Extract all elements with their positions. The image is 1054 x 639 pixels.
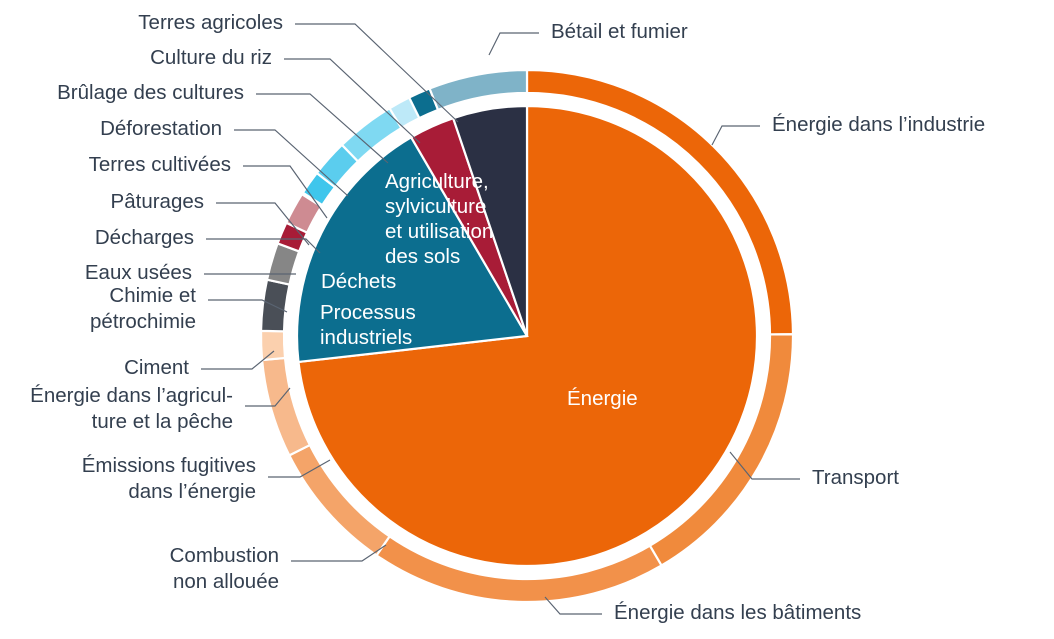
callout-label-decharges[interactable]: Décharges <box>95 226 194 249</box>
callout-label-brulage-des-cultures[interactable]: Brûlage des cultures <box>57 81 244 104</box>
callout-label-energie-agriculture[interactable]: Énergie dans l’agricul-ture et la pêche <box>30 384 233 433</box>
callout-label-chimie-et-petrochimie[interactable]: Chimie etpétrochimie <box>90 284 196 333</box>
outer-ring-slice[interactable]: Énergie dans l’agriculture et la pêche <box>261 331 285 360</box>
callout-label-transport[interactable]: Transport <box>812 466 899 489</box>
callout-label-paturages[interactable]: Pâturages <box>111 190 204 213</box>
callout-label-terres-cultivees[interactable]: Terres cultivées <box>89 153 231 176</box>
callout-label-energie-batiments[interactable]: Énergie dans les bâtiments <box>614 601 861 624</box>
leader-betail-et-fumier <box>489 33 539 55</box>
outer-ring-slice[interactable]: Ciment <box>261 280 289 332</box>
callout-label-terres-agricoles[interactable]: Terres agricoles <box>138 11 283 34</box>
label-dechets: Déchets <box>321 270 396 293</box>
callout-label-betail-et-fumier[interactable]: Bétail et fumier <box>551 20 688 43</box>
callout-label-energie-industrie[interactable]: Énergie dans l’industrie <box>772 113 985 136</box>
callout-label-culture-du-riz[interactable]: Culture du riz <box>150 46 272 69</box>
callout-label-ciment[interactable]: Ciment <box>124 356 189 379</box>
callout-label-eaux-usees[interactable]: Eaux usées <box>85 261 192 284</box>
label-energie: Énergie <box>567 387 638 410</box>
pie-chart-svg: Énergie dans l’industrieTransportÉnergie… <box>0 0 1054 639</box>
callout-label-combustion-non-allouee[interactable]: Combustionnon allouée <box>170 544 279 593</box>
outer-ring-slice[interactable]: Bétail et fumier <box>430 70 527 110</box>
leader-energie-industrie <box>712 126 760 145</box>
emissions-pie-chart: Énergie dans l’industrieTransportÉnergie… <box>0 0 1054 639</box>
callout-label-deforestation[interactable]: Déforestation <box>100 117 222 140</box>
callout-label-emissions-fugitives[interactable]: Émissions fugitivesdans l’énergie <box>82 454 256 503</box>
